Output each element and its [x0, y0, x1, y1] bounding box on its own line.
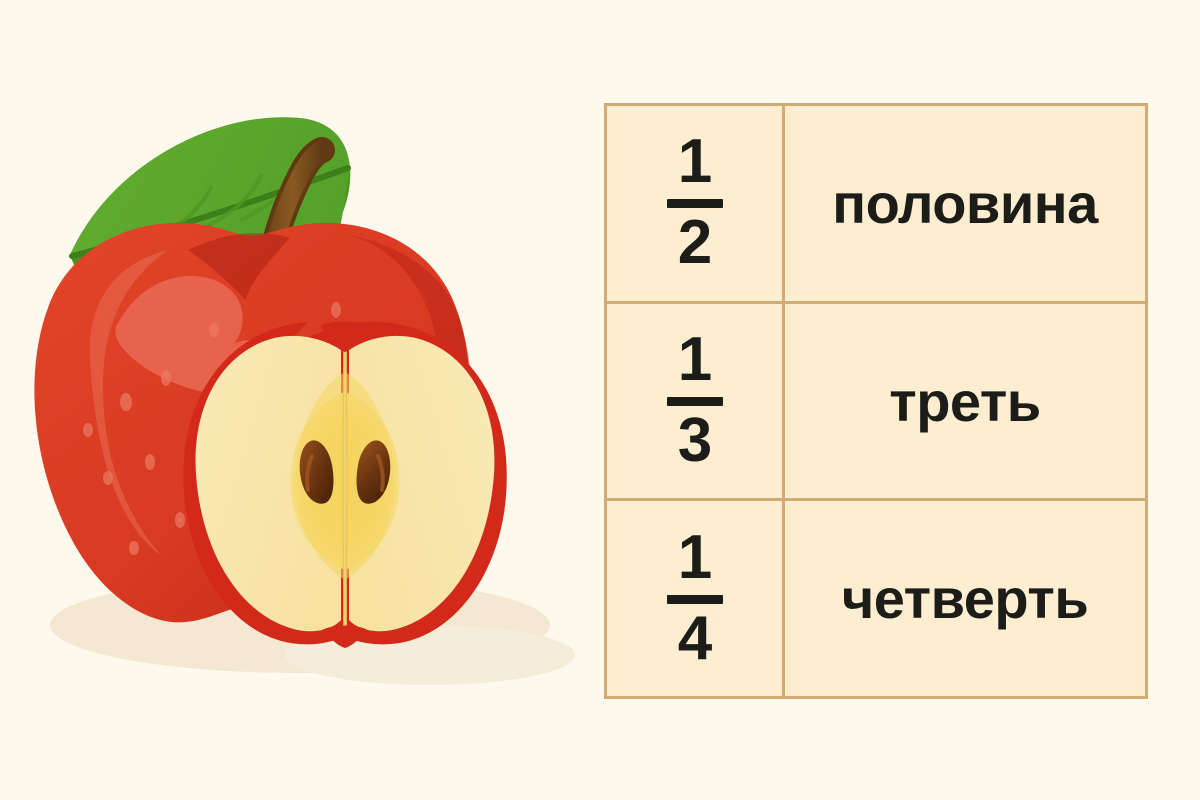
half-apple	[183, 322, 506, 649]
fraction-bar-icon	[667, 199, 723, 208]
apple-illustration	[0, 0, 600, 800]
fraction-one-third: 1 3	[667, 331, 723, 471]
fraction-cell: 1 4	[607, 501, 785, 696]
fraction-denominator: 3	[678, 412, 711, 471]
fraction-word: треть	[889, 369, 1040, 434]
fraction-denominator: 4	[678, 610, 711, 669]
fraction-bar-icon	[667, 595, 723, 604]
fraction-word: половина	[832, 171, 1098, 236]
page-root: 1 2 половина 1 3 треть	[0, 0, 1200, 800]
fraction-numerator: 1	[678, 133, 711, 192]
table-row: 1 2 половина	[607, 106, 1145, 304]
table-row: 1 3 треть	[607, 304, 1145, 502]
word-cell: треть	[785, 304, 1145, 499]
table-row: 1 4 четверть	[607, 501, 1145, 696]
fraction-cell: 1 2	[607, 106, 785, 301]
fraction-numerator: 1	[678, 331, 711, 390]
fraction-numerator: 1	[678, 529, 711, 588]
fraction-denominator: 2	[678, 214, 711, 273]
fraction-one-half: 1 2	[667, 133, 723, 273]
fraction-bar-icon	[667, 397, 723, 406]
word-cell: четверть	[785, 501, 1145, 696]
word-cell: половина	[785, 106, 1145, 301]
fraction-word: четверть	[842, 566, 1089, 631]
fraction-one-quarter: 1 4	[667, 529, 723, 669]
fraction-cell: 1 3	[607, 304, 785, 499]
fractions-table: 1 2 половина 1 3 треть	[604, 103, 1148, 699]
